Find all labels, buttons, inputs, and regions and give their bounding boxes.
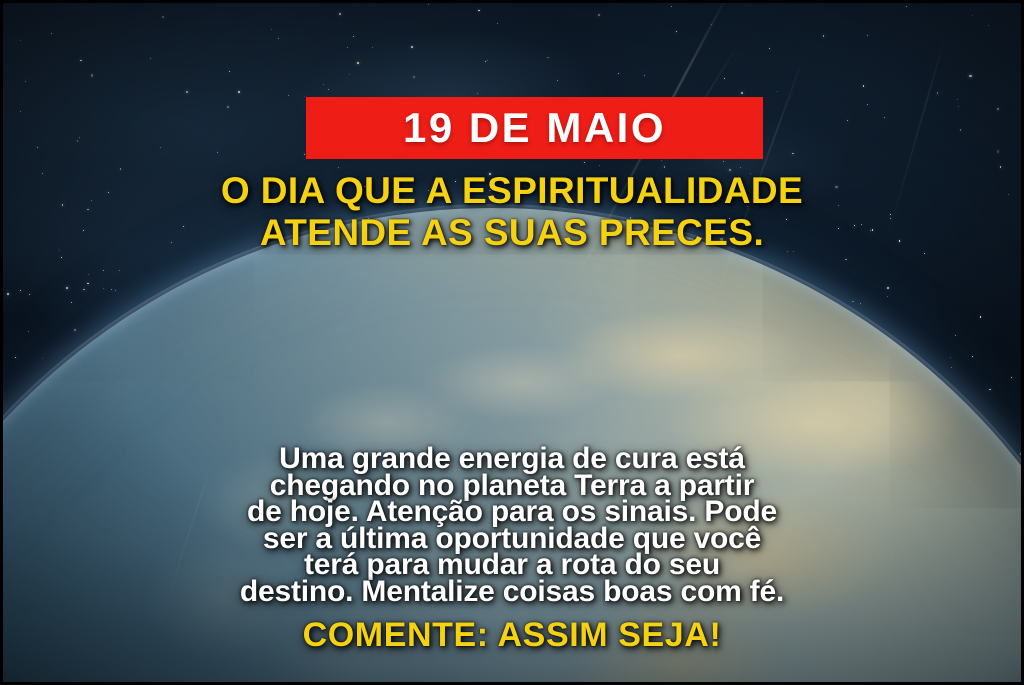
headline-line-1: O DIA QUE A ESPIRITUALIDADE: [221, 170, 803, 211]
social-media-poster: 19 DE MAIO O DIA QUE A ESPIRITUALIDADE A…: [0, 0, 1024, 685]
body-line: destino. Mentalize coisas boas com fé.: [65, 579, 959, 606]
poster-content: 19 DE MAIO O DIA QUE A ESPIRITUALIDADE A…: [3, 3, 1021, 682]
date-banner-text: 19 DE MAIO: [403, 107, 666, 149]
call-to-action-text: COMENTE: ASSIM SEJA!: [3, 617, 1021, 654]
headline: O DIA QUE A ESPIRITUALIDADE ATENDE AS SU…: [3, 170, 1021, 254]
headline-line-2: ATENDE AS SUAS PRECES.: [43, 212, 981, 254]
body-paragraph: Uma grande energia de cura estáchegando …: [3, 446, 1021, 605]
date-banner: 19 DE MAIO: [306, 97, 763, 159]
